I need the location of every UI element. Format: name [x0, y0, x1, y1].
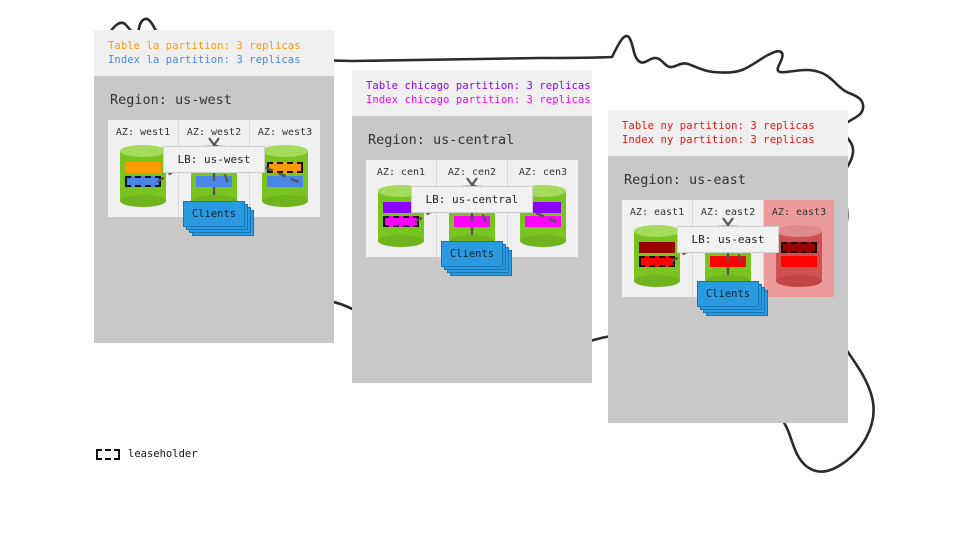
partition-banner-us-east: Table ny partition: 3 replicasIndex ny p… [608, 110, 848, 156]
replica-band [267, 176, 303, 187]
legend-label: leaseholder [128, 448, 198, 460]
cylinder-bottom [378, 235, 424, 247]
region-panel-us-central: Table chicago partition: 3 replicasIndex… [352, 70, 592, 383]
region-panel-us-west: Table la partition: 3 replicasIndex la p… [94, 30, 334, 343]
cylinder-bottom [520, 235, 566, 247]
az-label: AZ: east3 [772, 207, 826, 218]
cylinder-bottom [120, 195, 166, 207]
load-balancer-us-west[interactable]: LB: us-west [163, 146, 266, 173]
database-node-icon[interactable] [120, 145, 166, 207]
clients-stack-us-west[interactable]: Clients [183, 201, 245, 227]
database-node-icon[interactable] [776, 225, 822, 287]
region-title: Region: us-central [368, 132, 578, 148]
replica-band [525, 216, 561, 227]
clients-stack-us-central[interactable]: Clients [441, 241, 503, 267]
clients-stack-us-east[interactable]: Clients [697, 281, 759, 307]
region-title: Region: us-east [624, 172, 834, 188]
banner-line: Index ny partition: 3 replicas [622, 133, 834, 147]
banner-line: Table chicago partition: 3 replicas [366, 79, 578, 93]
replica-band-leaseholder [781, 242, 817, 253]
leaseholder-swatch-icon [96, 449, 120, 460]
replica-bands [267, 162, 303, 190]
replica-band-leaseholder [267, 162, 303, 173]
replica-band [781, 256, 817, 267]
az-label: AZ: west3 [258, 127, 312, 138]
clients-label: Clients [441, 241, 503, 267]
banner-line: Table la partition: 3 replicas [108, 39, 320, 53]
banner-line: Index chicago partition: 3 replicas [366, 93, 578, 107]
replica-band [454, 216, 490, 227]
partition-banner-us-central: Table chicago partition: 3 replicasIndex… [352, 70, 592, 116]
cylinder-bottom [262, 195, 308, 207]
legend: leaseholder [96, 448, 198, 460]
replica-band-leaseholder [125, 176, 161, 187]
az-label: AZ: west1 [116, 127, 170, 138]
cylinder-bottom [634, 275, 680, 287]
az-label: AZ: east1 [630, 207, 684, 218]
database-node-icon[interactable] [634, 225, 680, 287]
load-balancer-us-central[interactable]: LB: us-central [411, 186, 534, 213]
load-balancer-us-east[interactable]: LB: us-east [677, 226, 780, 253]
clients-label: Clients [183, 201, 245, 227]
replica-bands [125, 162, 161, 190]
replica-band [639, 242, 675, 253]
az-label: AZ: cen2 [448, 167, 496, 178]
replica-band [710, 256, 746, 267]
partition-banner-us-west: Table la partition: 3 replicasIndex la p… [94, 30, 334, 76]
replica-band-leaseholder [639, 256, 675, 267]
replica-band [125, 162, 161, 173]
banner-line: Table ny partition: 3 replicas [622, 119, 834, 133]
replica-band-leaseholder [383, 216, 419, 227]
az-label: AZ: cen3 [519, 167, 567, 178]
az-label: AZ: west2 [187, 127, 241, 138]
diagram-canvas: Table la partition: 3 replicasIndex la p… [0, 0, 960, 540]
replica-bands [781, 242, 817, 270]
region-title: Region: us-west [110, 92, 320, 108]
region-panel-us-east: Table ny partition: 3 replicasIndex ny p… [608, 110, 848, 423]
az-label: AZ: east2 [701, 207, 755, 218]
replica-band [196, 176, 232, 187]
cylinder-bottom [776, 275, 822, 287]
az-label: AZ: cen1 [377, 167, 425, 178]
replica-bands [639, 242, 675, 270]
clients-label: Clients [697, 281, 759, 307]
database-node-icon[interactable] [262, 145, 308, 207]
banner-line: Index la partition: 3 replicas [108, 53, 320, 67]
